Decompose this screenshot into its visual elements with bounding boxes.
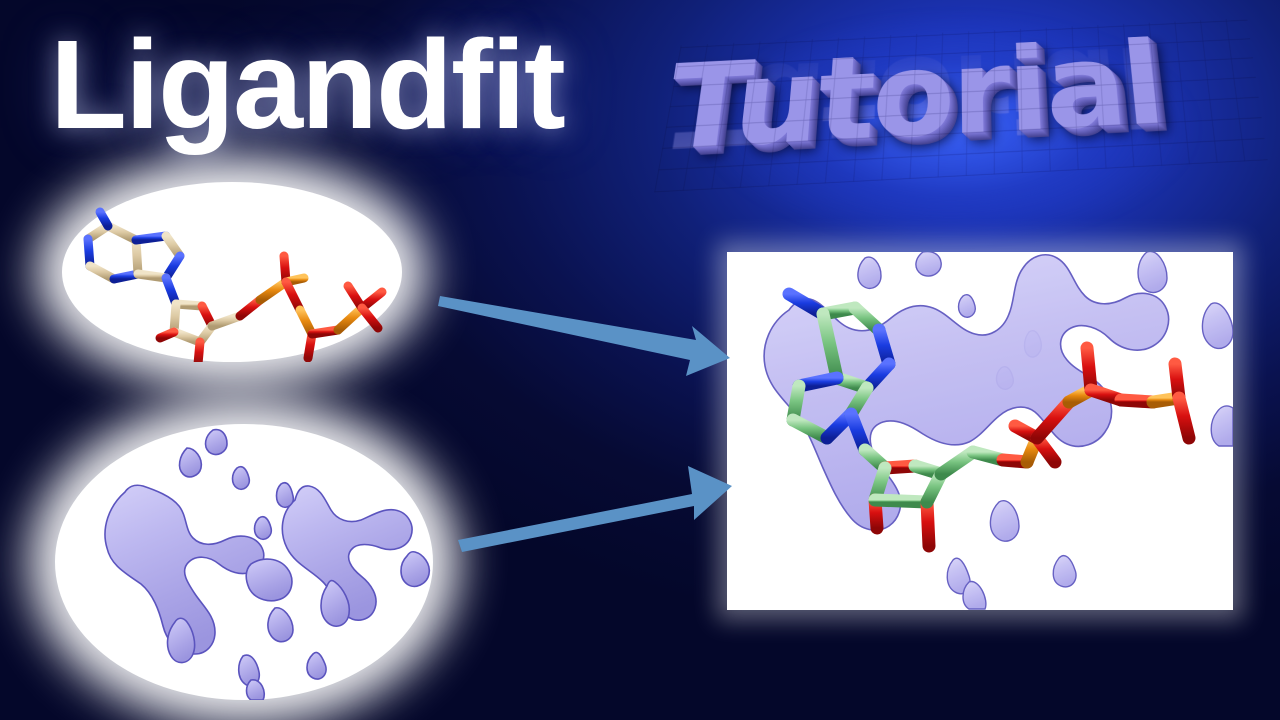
slide-canvas: Ligandfit Tutorial Tutorial bbox=[0, 0, 1280, 720]
page-title: Ligandfit bbox=[50, 22, 564, 148]
atp-stick-model bbox=[62, 182, 402, 362]
tutorial-main-text: Tutorial bbox=[658, 19, 1169, 178]
density-isosurface bbox=[55, 424, 433, 700]
fitted-result-panel bbox=[727, 252, 1233, 610]
tutorial-3d-text: Tutorial Tutorial bbox=[650, 8, 1280, 258]
ligand-model-ellipse bbox=[62, 182, 402, 362]
arrow-density-to-result bbox=[444, 452, 744, 562]
electron-density-ellipse bbox=[55, 424, 433, 700]
arrow-ligand-to-result bbox=[424, 280, 744, 400]
fitted-ligand-in-density bbox=[727, 252, 1233, 610]
